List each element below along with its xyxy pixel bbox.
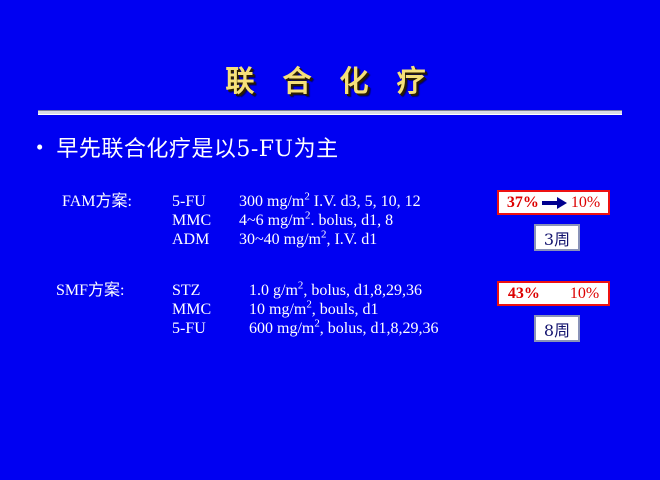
regimen-block-smf: SMF方案: STZ 1.0 g/m2, bolus, d1,8,29,36 M… — [56, 281, 438, 338]
drug-name: STZ — [172, 281, 249, 300]
drug-name: MMC — [172, 300, 249, 319]
response-group-fam: 37% 10% 3周 — [497, 190, 610, 251]
drug-name: 5-FU — [172, 319, 249, 338]
response-rate-to: 10% — [571, 194, 600, 212]
regimen-row: SMF方案: STZ 1.0 g/m2, bolus, d1,8,29,36 — [56, 281, 438, 300]
response-rate-box: 37% 10% — [497, 190, 610, 215]
dose-prefix: 30~40 mg/m — [239, 231, 321, 248]
regimen-row: FAM方案: 5-FU 300 mg/m2 I.V. d3, 5, 10, 12 — [62, 192, 421, 211]
drug-dose: 10 mg/m2, bouls, d1 — [249, 300, 378, 319]
dose-prefix: 300 mg/m — [239, 193, 304, 210]
dose-prefix: 4~6 mg/m — [239, 212, 305, 229]
drug-name: ADM — [172, 230, 239, 249]
bullet-marker-icon: • — [36, 137, 43, 158]
regimen-row: 5-FU 600 mg/m2, bolus, d1,8,29,36 — [56, 319, 438, 338]
response-rate-from: 43% — [508, 285, 540, 303]
response-rate-box: 43% 10% — [497, 281, 610, 306]
regimen-label-fam: FAM方案: — [62, 192, 172, 211]
dose-suffix: , bolus, d1,8,29,36 — [320, 320, 439, 337]
drug-dose: 1.0 g/m2, bolus, d1,8,29,36 — [249, 281, 422, 300]
regimen-row: MMC 10 mg/m2, bouls, d1 — [56, 300, 438, 319]
drug-name: 5-FU — [172, 192, 239, 211]
cycle-duration-label: 3周 — [544, 226, 570, 250]
response-group-smf: 43% 10% 8周 — [497, 281, 610, 342]
bullet-text: 早先联合化疗是以5-FU为主 — [56, 131, 338, 163]
drug-dose: 4~6 mg/m2. bolus, d1, 8 — [239, 211, 393, 230]
cycle-duration-box: 3周 — [534, 224, 580, 251]
drug-dose: 600 mg/m2, bolus, d1,8,29,36 — [249, 319, 438, 338]
regimen-row: MMC 4~6 mg/m2. bolus, d1, 8 — [62, 211, 421, 230]
dose-prefix: 10 mg/m — [249, 301, 306, 318]
dose-suffix: . bolus, d1, 8 — [310, 212, 393, 229]
response-rate-from: 37% — [507, 194, 539, 212]
dose-prefix: 600 mg/m — [249, 320, 314, 337]
right-arrow-icon — [542, 197, 568, 209]
dose-suffix: , I.V. d1 — [326, 231, 377, 248]
page-title: 联 合 化 疗 — [0, 58, 660, 100]
response-rate-to: 10% — [570, 285, 599, 303]
drug-dose: 300 mg/m2 I.V. d3, 5, 10, 12 — [239, 192, 421, 211]
regimen-row: ADM 30~40 mg/m2, I.V. d1 — [62, 230, 421, 249]
dose-suffix: , bolus, d1,8,29,36 — [303, 282, 422, 299]
drug-name: MMC — [172, 211, 239, 230]
regimen-block-fam: FAM方案: 5-FU 300 mg/m2 I.V. d3, 5, 10, 12… — [62, 192, 421, 249]
cycle-duration-label: 8周 — [544, 317, 570, 341]
dose-suffix: I.V. d3, 5, 10, 12 — [310, 193, 421, 210]
cycle-duration-box: 8周 — [534, 315, 580, 342]
dose-prefix: 1.0 g/m — [249, 282, 298, 299]
drug-dose: 30~40 mg/m2, I.V. d1 — [239, 230, 377, 249]
dose-suffix: , bouls, d1 — [312, 301, 379, 318]
bullet-line: • 早先联合化疗是以5-FU为主 — [36, 131, 339, 163]
regimen-label-smf: SMF方案: — [56, 281, 172, 300]
title-divider-rule — [38, 110, 622, 115]
